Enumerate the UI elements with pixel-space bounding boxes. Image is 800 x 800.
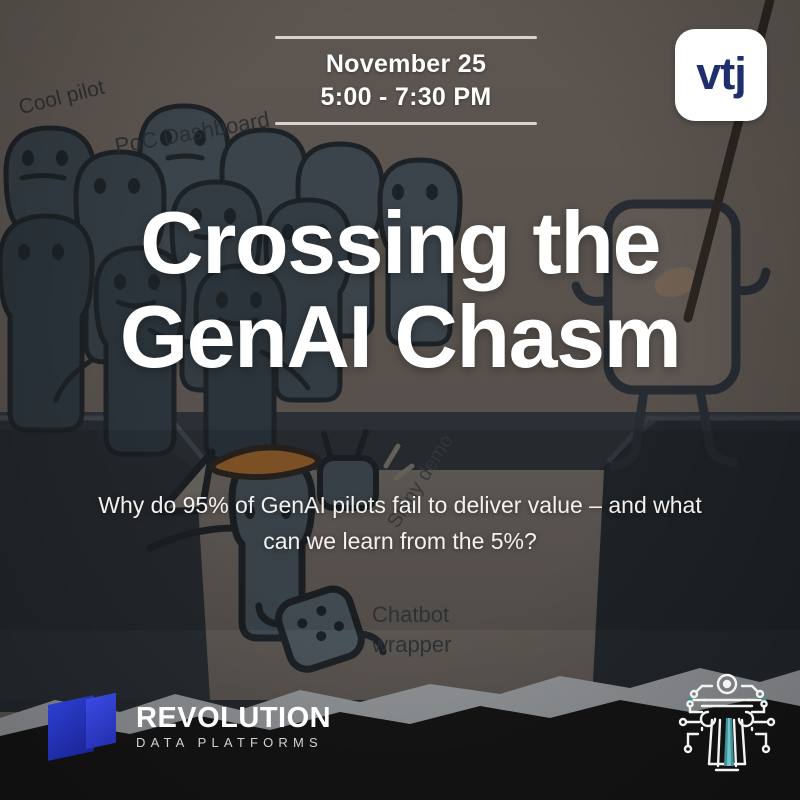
event-date-text: November 25 5:00 - 7:30 PM bbox=[275, 39, 537, 122]
page-title-line-1: Crossing the bbox=[0, 196, 800, 290]
revolution-logo-title: REVOLUTION bbox=[136, 703, 331, 734]
page-title: Crossing the GenAI Chasm bbox=[0, 196, 800, 384]
circuit-pillar-icon bbox=[672, 660, 782, 775]
vtj-logo-text: vtj bbox=[696, 51, 746, 96]
revolution-logo-wordmark: REVOLUTION DATA PLATFORMS bbox=[136, 703, 331, 751]
annotation-cool-pilot: Cool pilot bbox=[16, 76, 107, 120]
event-date: November 25 bbox=[275, 48, 537, 81]
event-time: 5:00 - 7:30 PM bbox=[275, 81, 537, 114]
revolution-logo-mark bbox=[48, 696, 122, 758]
date-rule-bottom bbox=[275, 122, 537, 125]
page-subtitle: Why do 95% of GenAI pilots fail to deliv… bbox=[60, 487, 740, 559]
annotation-chatbot-wrapper: Chatbot wrapper bbox=[372, 600, 492, 660]
annotation-poc-dashboard: PoC Dashboard bbox=[113, 107, 272, 160]
revolution-data-platforms-logo: REVOLUTION DATA PLATFORMS bbox=[48, 696, 331, 758]
page-subtitle-line-1: Why do 95% of GenAI pilots fail to deliv… bbox=[60, 487, 740, 523]
event-date-block: November 25 5:00 - 7:30 PM bbox=[275, 36, 537, 125]
page-subtitle-line-2: can we learn from the 5%? bbox=[60, 523, 740, 559]
poster-canvas: Cool pilot PoC Dashboard Shiny demo Chat… bbox=[0, 0, 800, 800]
vtj-logo: vtj bbox=[675, 29, 767, 121]
revolution-mark-shape-2 bbox=[86, 693, 116, 749]
revolution-logo-subtitle: DATA PLATFORMS bbox=[136, 734, 331, 751]
page-title-line-2: GenAI Chasm bbox=[0, 290, 800, 384]
